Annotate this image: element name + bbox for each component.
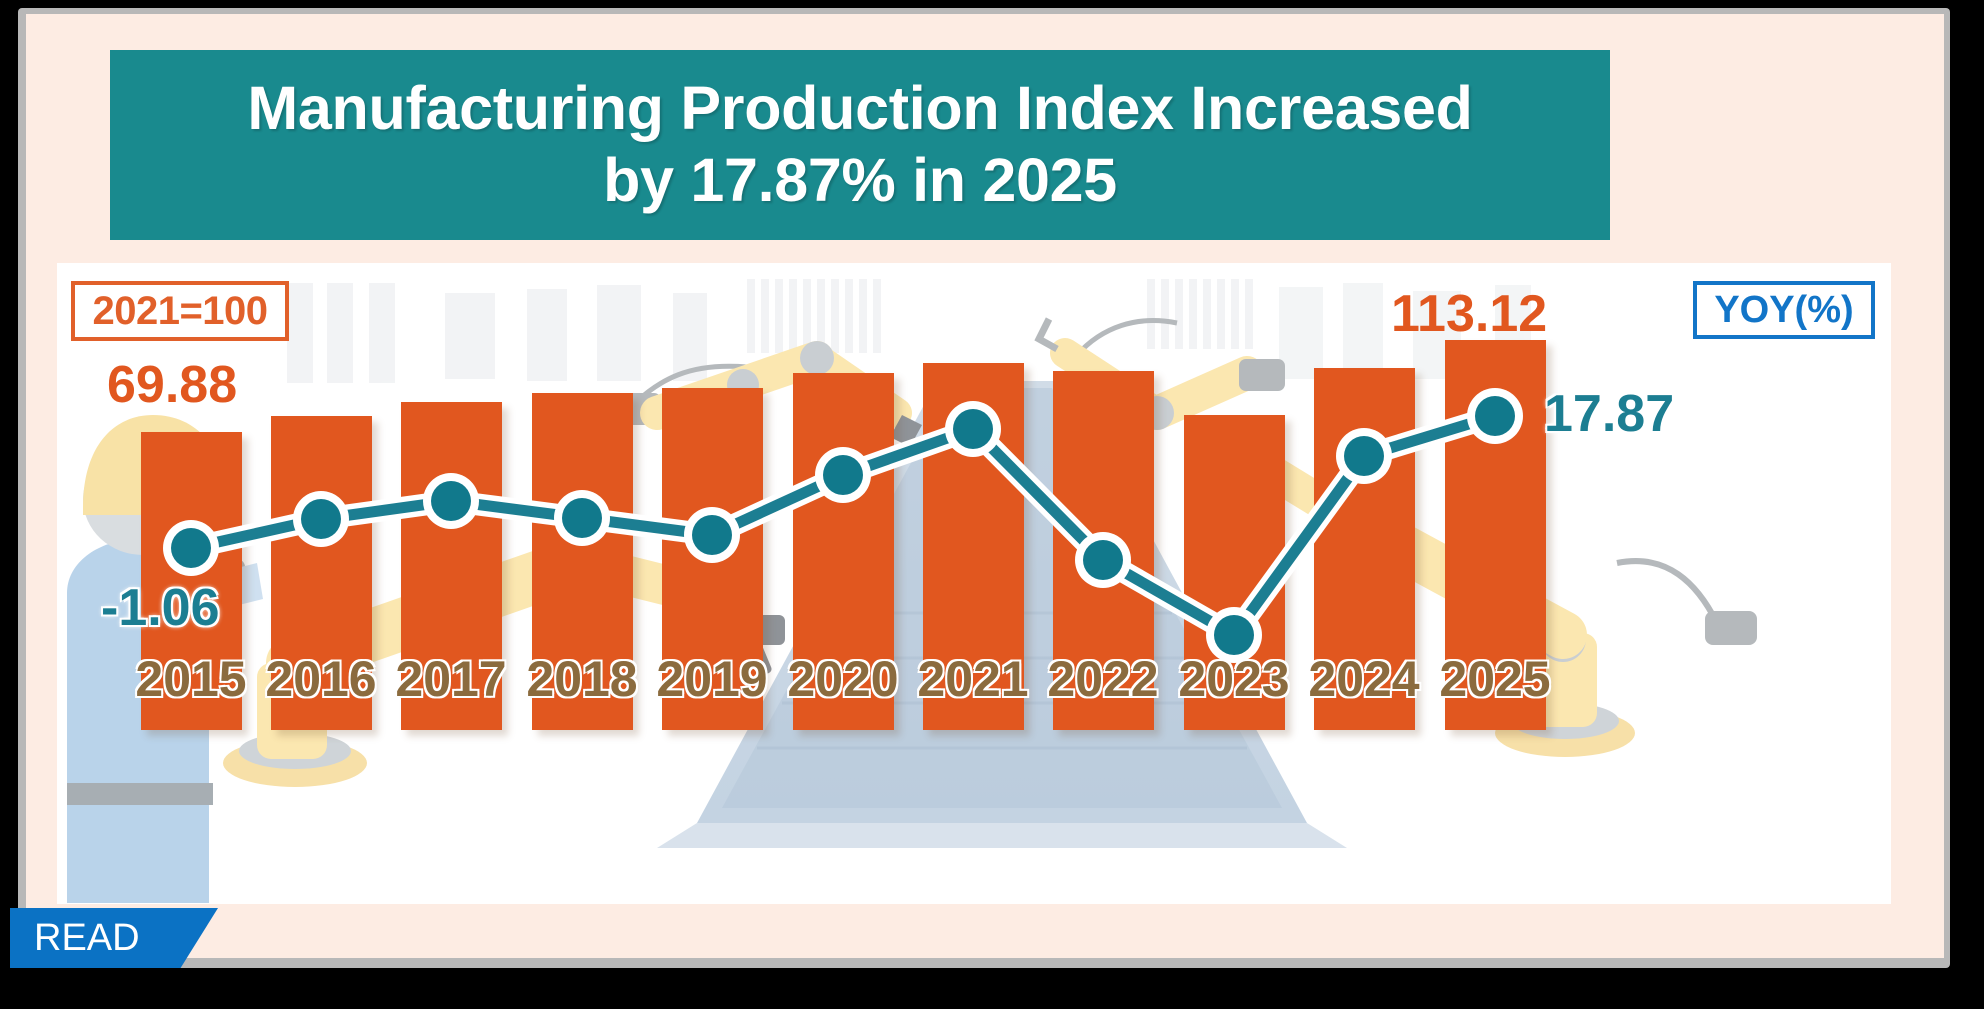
x-axis-label-2019: 2019 xyxy=(656,650,767,708)
title-banner: Manufacturing Production Index Increased… xyxy=(110,50,1610,240)
x-axis-label-2024: 2024 xyxy=(1308,650,1419,708)
x-axis-label-2018: 2018 xyxy=(526,650,637,708)
x-axis-label-2021: 2021 xyxy=(917,650,1028,708)
x-axis-label-2023: 2023 xyxy=(1178,650,1289,708)
page-title-line1: Manufacturing Production Index Increased xyxy=(247,74,1472,142)
x-axis-label-2022: 2022 xyxy=(1047,650,1158,708)
x-axis-label-2017: 2017 xyxy=(395,650,506,708)
infographic-root: Manufacturing Production Index Increased… xyxy=(0,0,1984,1009)
read-label: READ xyxy=(34,917,140,960)
x-axis-labels: 2015 2016 2017 2018 2019 2020 2021 2022 … xyxy=(57,263,1891,904)
x-axis-label-2025: 2025 xyxy=(1439,650,1550,708)
chart-panel: 2021=100 YOY(%) xyxy=(57,263,1891,904)
x-axis-label-2015: 2015 xyxy=(135,650,246,708)
page-title: Manufacturing Production Index Increased… xyxy=(247,73,1472,217)
x-axis-label-2020: 2020 xyxy=(787,650,898,708)
page-title-line2: by 17.87% in 2025 xyxy=(603,146,1117,214)
x-axis-label-2016: 2016 xyxy=(265,650,376,708)
